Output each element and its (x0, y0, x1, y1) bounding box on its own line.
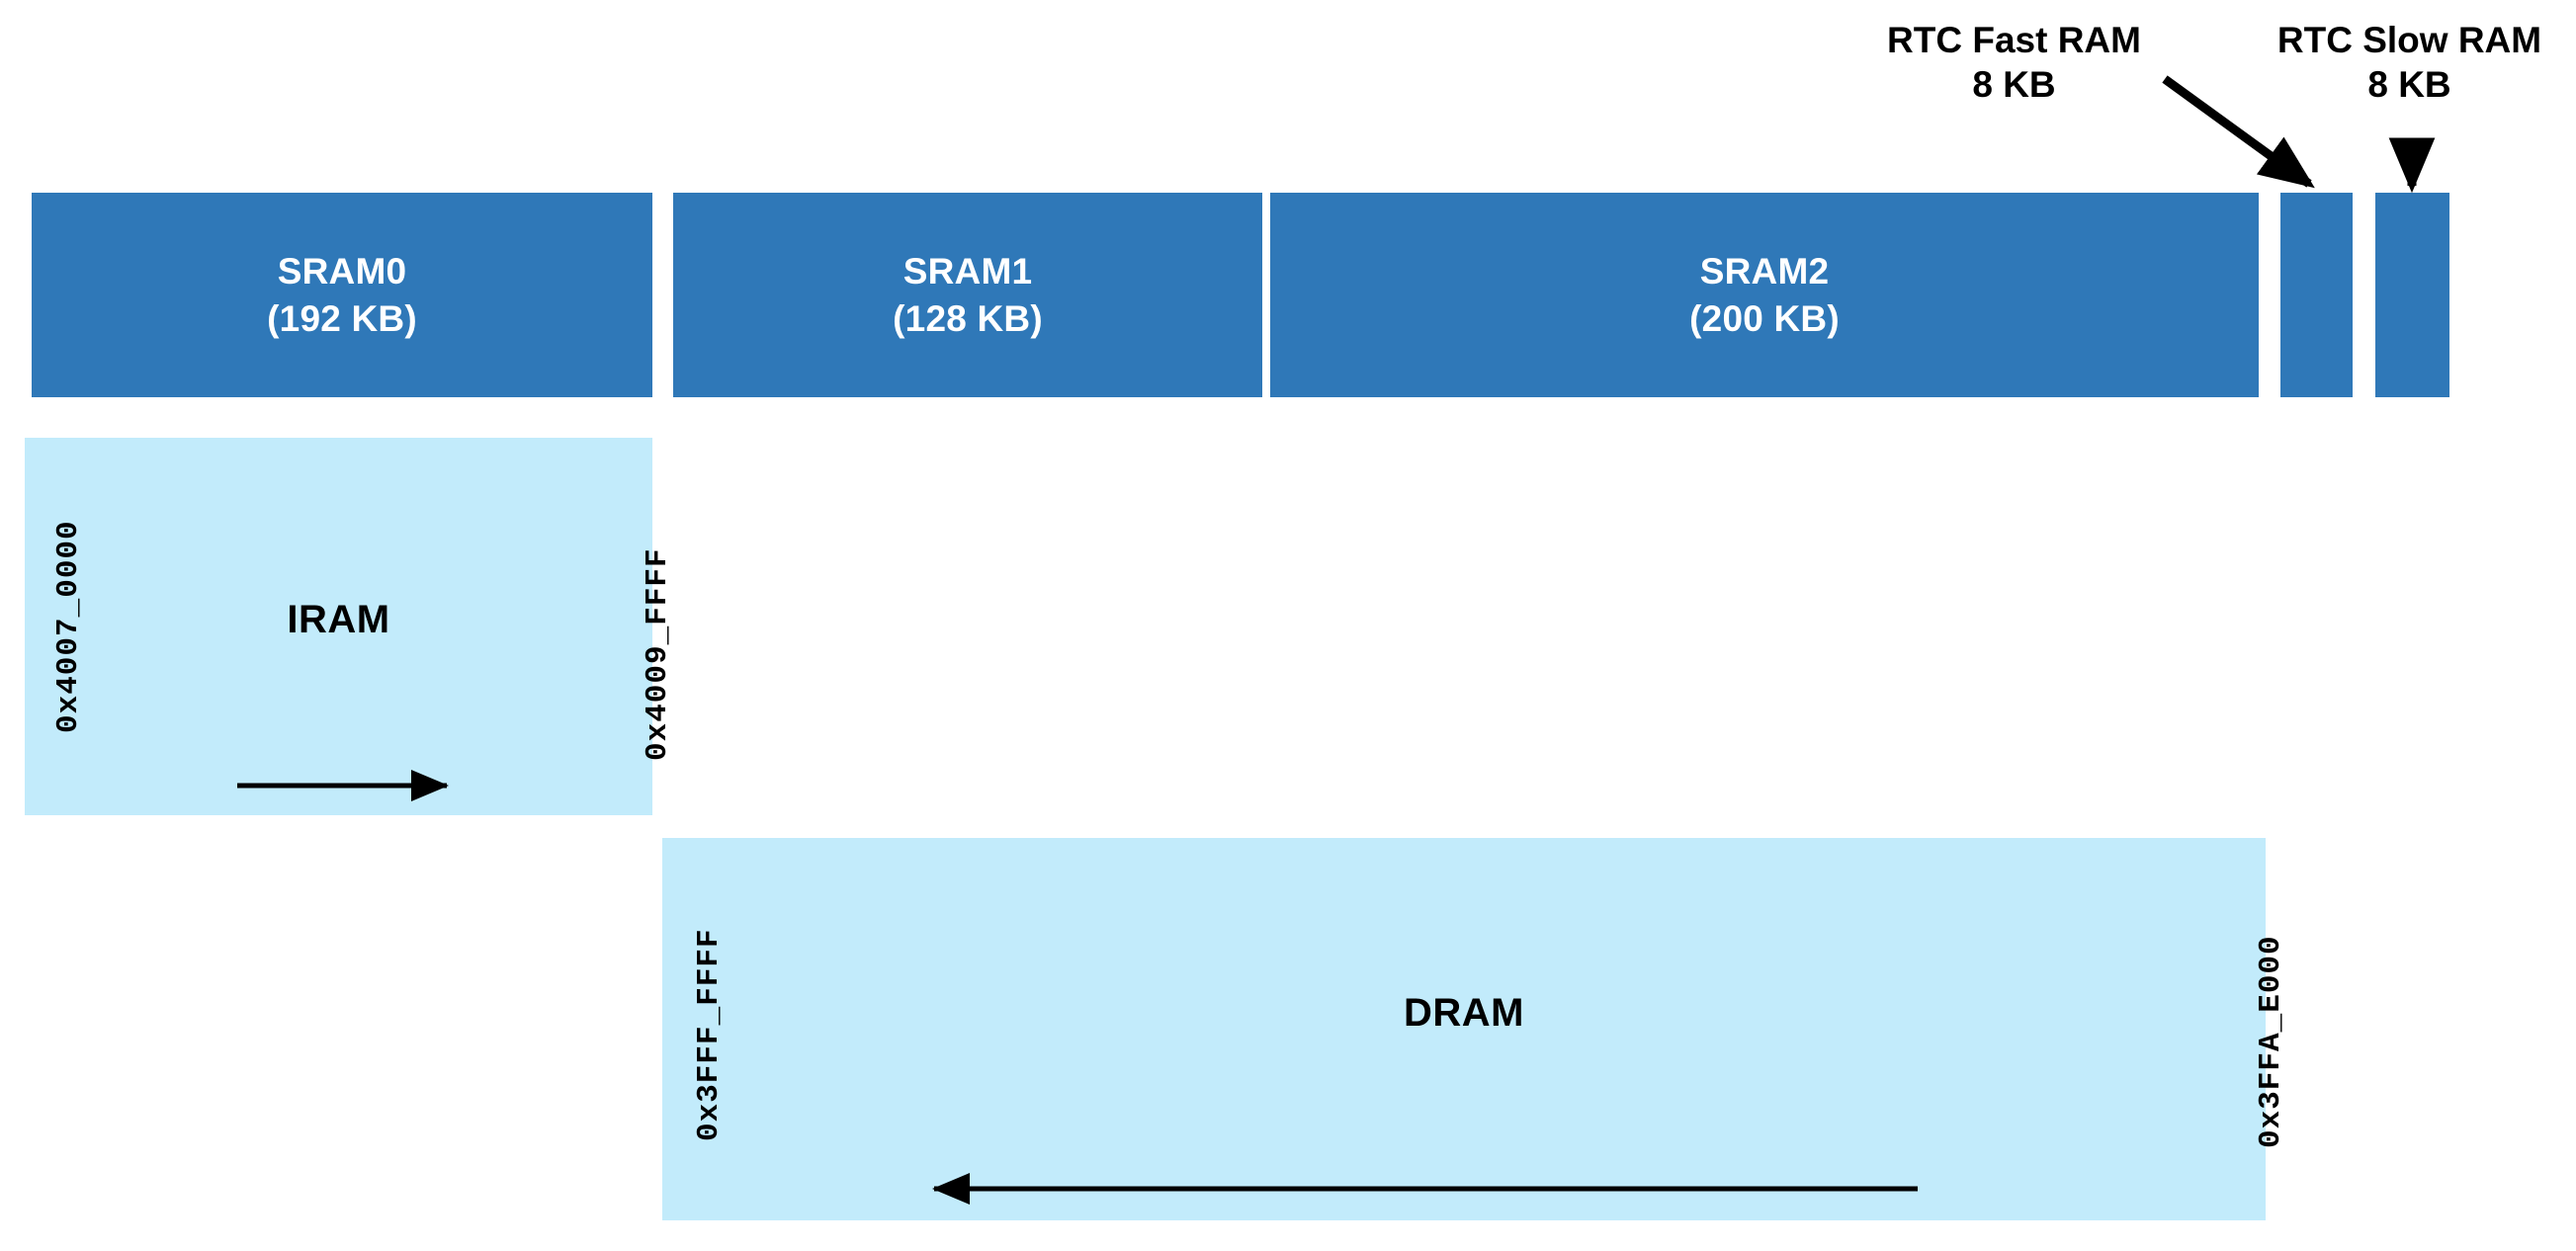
callout-rtc-slow-ram-name: RTC Slow RAM (2229, 18, 2576, 62)
iram-region: IRAM (25, 438, 652, 815)
iram-label: IRAM (25, 598, 652, 642)
callout-rtc-slow-ram-size: 8 KB (2229, 62, 2576, 107)
rtc-fast-ram-block (2280, 193, 2353, 397)
memory-map-diagram: RTC Fast RAM 8 KB RTC Slow RAM 8 KB SRAM… (0, 0, 2576, 1251)
sram2-size: (200 KB) (1689, 295, 1840, 342)
sram1-size: (128 KB) (893, 295, 1043, 342)
dram-start-address: 0x3FFF_FFFF (692, 928, 727, 1141)
callout-rtc-fast-ram: RTC Fast RAM 8 KB (1834, 18, 2194, 107)
sram1-name: SRAM1 (903, 248, 1033, 294)
sram0-size: (192 KB) (267, 295, 417, 342)
sram2-name: SRAM2 (1700, 248, 1830, 294)
dram-region: DRAM (662, 838, 2266, 1220)
iram-end-address: 0x4009_FFFF (641, 547, 675, 761)
callout-rtc-fast-ram-size: 8 KB (1834, 62, 2194, 107)
dram-label: DRAM (662, 991, 2266, 1036)
sram0-block: SRAM0 (192 KB) (32, 193, 652, 397)
sram0-name: SRAM0 (278, 248, 407, 294)
callout-rtc-fast-ram-name: RTC Fast RAM (1834, 18, 2194, 62)
iram-start-address: 0x4007_0000 (51, 520, 86, 733)
rtc-slow-ram-block (2375, 193, 2449, 397)
dram-end-address: 0x3FFA_E000 (2254, 935, 2288, 1148)
callout-rtc-slow-ram: RTC Slow RAM 8 KB (2229, 18, 2576, 107)
sram1-block: SRAM1 (128 KB) (673, 193, 1262, 397)
sram2-block: SRAM2 (200 KB) (1270, 193, 2259, 397)
